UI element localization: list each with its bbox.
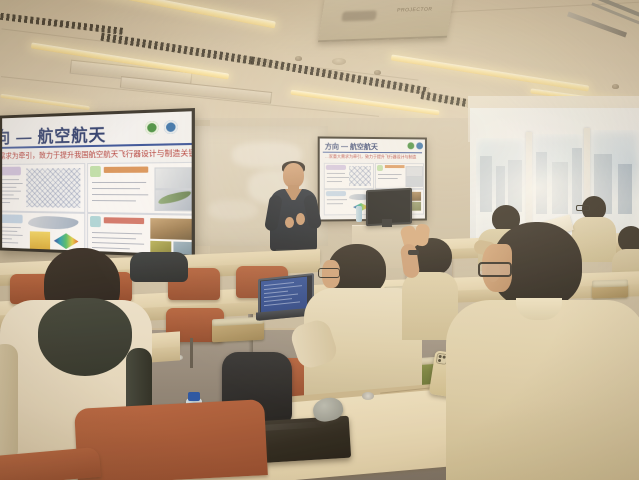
presenter-hand-left [285, 217, 294, 228]
sprinkler-head [612, 84, 619, 89]
ceiling-projector: PROJECTOR [318, 0, 454, 42]
person-clapping [396, 230, 456, 340]
person-torso [446, 300, 639, 480]
glasses [478, 262, 512, 277]
light-strip [83, 0, 276, 29]
classroom-photo: PROJECTOR 方向 — [0, 0, 639, 480]
person-foreground-right [452, 222, 639, 480]
light-strip [0, 94, 90, 110]
skyline-building [480, 156, 492, 212]
sprinkler-head [374, 70, 381, 75]
chair-leg [190, 338, 193, 368]
glasses [318, 268, 340, 278]
keys-front-desk [362, 392, 374, 400]
snack-box [212, 321, 264, 343]
wristwatch [408, 250, 419, 255]
projection-glare [2, 111, 192, 254]
chair-foreground[interactable] [74, 399, 268, 480]
smoke-detector [332, 58, 346, 65]
podium-water-bottle [356, 206, 362, 222]
person-arm [0, 344, 18, 462]
ceiling-panel [120, 76, 272, 104]
bottle-cap [188, 392, 200, 401]
monitor-stand [382, 219, 392, 227]
projector-lens [341, 10, 377, 21]
skyline-building [536, 152, 547, 214]
camera-lens [437, 359, 440, 362]
camera-lens [438, 354, 441, 357]
skyline-building [618, 164, 632, 214]
slide-surface: 方向 — 航空航天 …家重大需求为牵引，致力于提升我国航空航天飞行器设计与制造关… [2, 111, 192, 254]
main-projection-screen: 方向 — 航空航天 …家重大需求为牵引，致力于提升我国航空航天飞行器设计与制造关… [0, 108, 195, 258]
presenter-hand-right [296, 213, 305, 225]
hoodie-hood [38, 298, 132, 376]
projector-label: PROJECTOR [397, 6, 433, 13]
sprinkler-head [295, 56, 302, 61]
